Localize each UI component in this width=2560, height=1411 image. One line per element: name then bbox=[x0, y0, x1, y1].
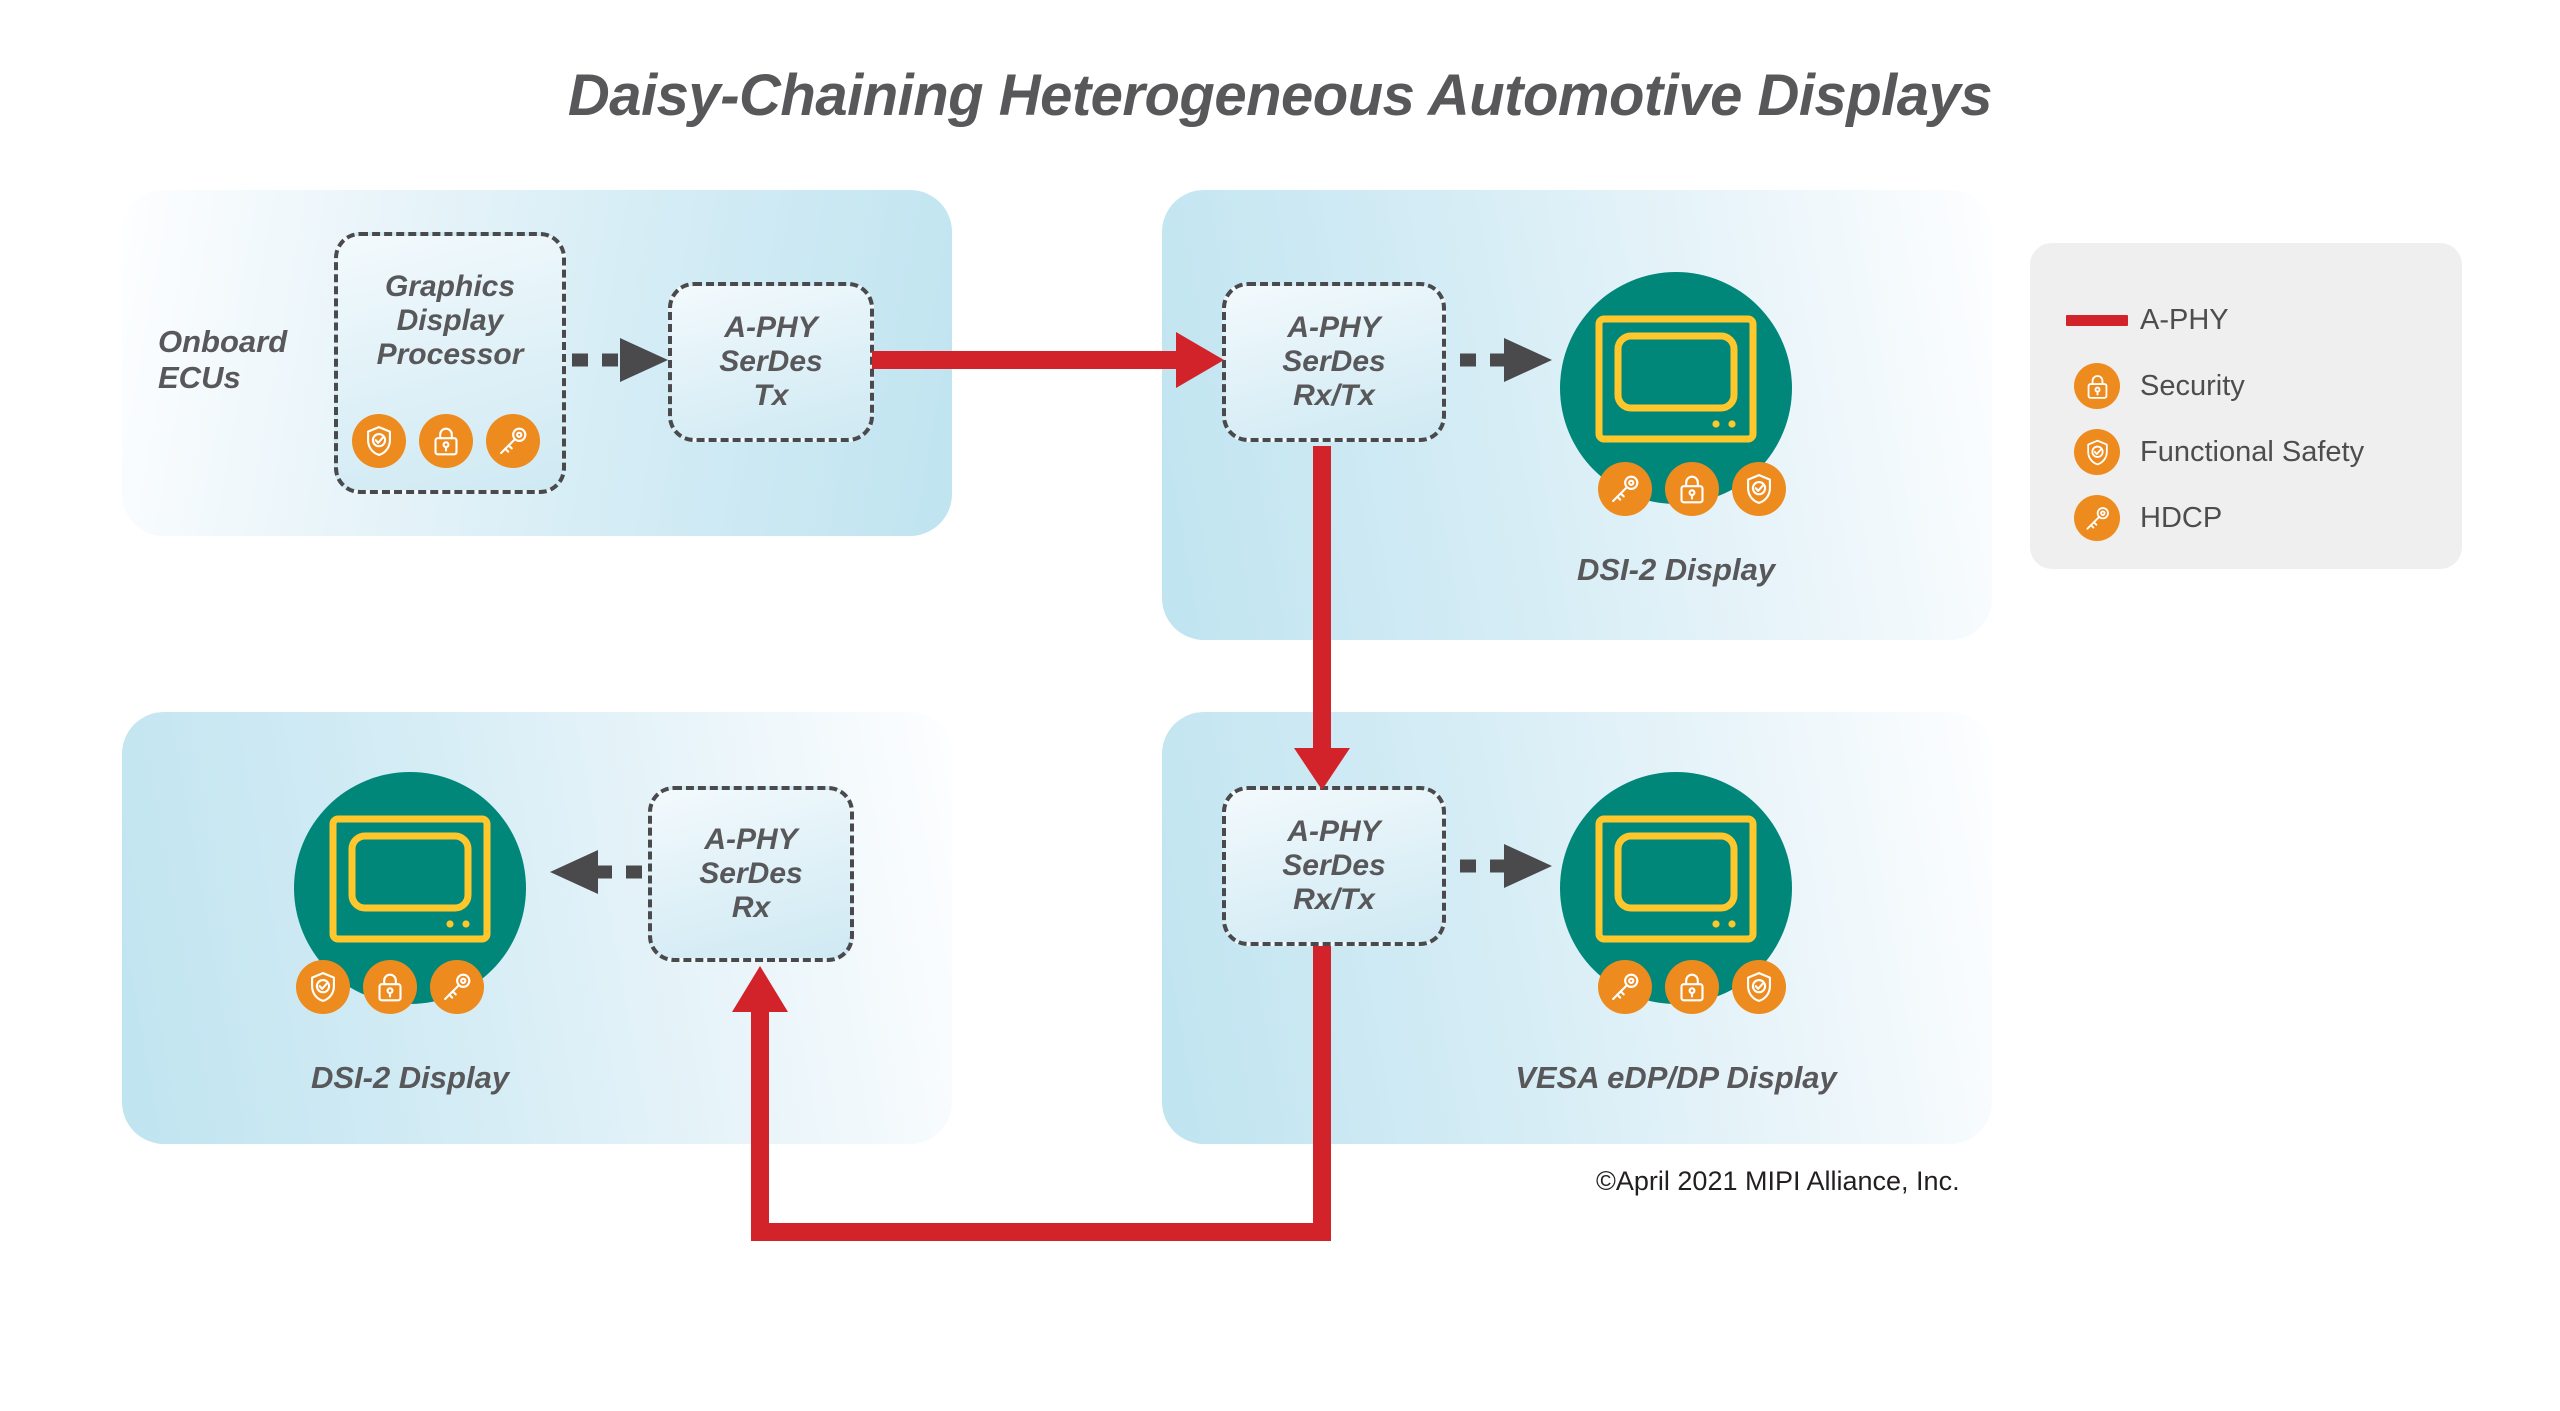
legend-panel: A-PHY Security bbox=[2030, 243, 2462, 569]
diagram-canvas: Daisy-Chaining Heterogeneous Automotive … bbox=[0, 0, 2560, 1411]
hdcp-icon bbox=[1598, 462, 1652, 516]
legend-label-aphy: A-PHY bbox=[2140, 304, 2229, 337]
vesa-badge-row bbox=[1598, 960, 1786, 1014]
aphy-serdes-rx-box[interactable]: A-PHY SerDes Rx bbox=[648, 786, 854, 962]
monitor-icon bbox=[1594, 814, 1758, 944]
gdp-badge-row bbox=[352, 414, 540, 468]
aphy-serdes-tx-label: A-PHY SerDes Tx bbox=[719, 311, 822, 414]
aphy-serdes-rxtx-bottom-box[interactable]: A-PHY SerDes Rx/Tx bbox=[1222, 786, 1446, 946]
aphy-serdes-rx-label: A-PHY SerDes Rx bbox=[699, 823, 802, 926]
monitor-icon bbox=[1594, 314, 1758, 444]
aphy-serdes-rxtx-top-label: A-PHY SerDes Rx/Tx bbox=[1282, 311, 1385, 414]
dsi2-bottom-badge-row bbox=[296, 960, 484, 1014]
hdcp-icon bbox=[486, 414, 540, 468]
functional-safety-icon bbox=[1732, 960, 1786, 1014]
copyright-notice: ©April 2021 MIPI Alliance, Inc. bbox=[1596, 1166, 1960, 1197]
legend-item-functional-safety[interactable]: Functional Safety bbox=[2054, 419, 2462, 485]
legend-label-hdcp: HDCP bbox=[2140, 502, 2222, 535]
dsi2-top-badge-row bbox=[1598, 462, 1786, 516]
functional-safety-icon bbox=[1732, 462, 1786, 516]
display-caption-dsi2-bottom: DSI-2 Display bbox=[150, 1060, 670, 1096]
aphy-serdes-rxtx-top-box[interactable]: A-PHY SerDes Rx/Tx bbox=[1222, 282, 1446, 442]
security-icon bbox=[1665, 462, 1719, 516]
hdcp-icon bbox=[430, 960, 484, 1014]
legend-item-security[interactable]: Security bbox=[2054, 353, 2462, 419]
functional-safety-icon bbox=[2074, 429, 2120, 475]
aphy-serdes-rxtx-bottom-label: A-PHY SerDes Rx/Tx bbox=[1282, 815, 1385, 918]
legend-item-hdcp[interactable]: HDCP bbox=[2054, 485, 2462, 551]
aphy-serdes-tx-box[interactable]: A-PHY SerDes Tx bbox=[668, 282, 874, 442]
legend-item-aphy[interactable]: A-PHY bbox=[2054, 287, 2462, 353]
onboard-ecus-label: Onboard ECUs bbox=[158, 324, 287, 396]
security-icon bbox=[1665, 960, 1719, 1014]
aphy-line-swatch bbox=[2054, 315, 2140, 326]
hdcp-icon bbox=[2074, 495, 2120, 541]
monitor-icon bbox=[328, 814, 492, 944]
functional-safety-icon bbox=[296, 960, 350, 1014]
display-caption-vesa: VESA eDP/DP Display bbox=[1416, 1060, 1936, 1096]
page-title: Daisy-Chaining Heterogeneous Automotive … bbox=[0, 62, 2560, 129]
hdcp-icon bbox=[1598, 960, 1652, 1014]
legend-label-security: Security bbox=[2140, 370, 2245, 403]
security-icon bbox=[2074, 363, 2120, 409]
security-icon bbox=[419, 414, 473, 468]
security-icon bbox=[363, 960, 417, 1014]
graphics-display-processor-label: Graphics Display Processor bbox=[377, 270, 524, 373]
functional-safety-icon bbox=[352, 414, 406, 468]
legend-label-functional-safety: Functional Safety bbox=[2140, 436, 2364, 469]
display-caption-dsi2-top: DSI-2 Display bbox=[1416, 552, 1936, 588]
